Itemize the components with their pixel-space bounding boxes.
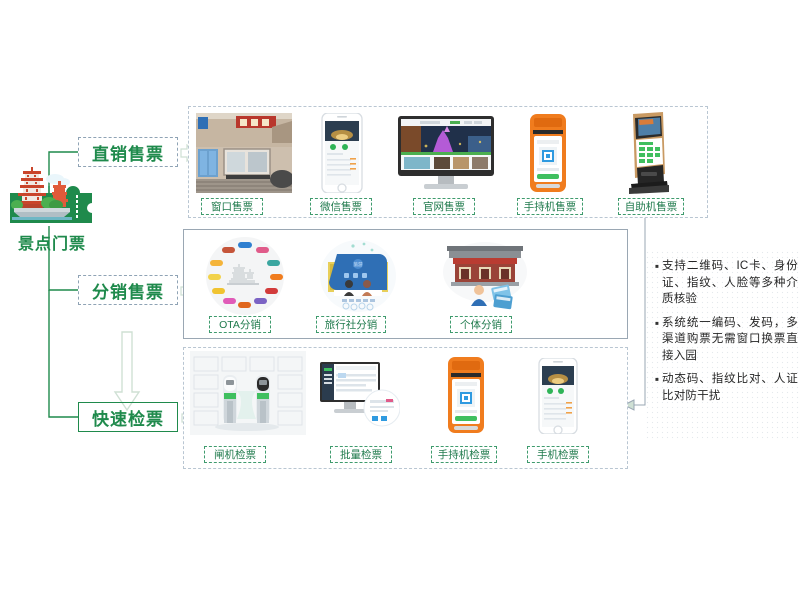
caption-wechat-sales: 微信售票 — [310, 198, 372, 215]
caption-individual-distribution: 个体分销 — [450, 316, 512, 333]
item-batch-inspection[interactable] — [320, 362, 400, 432]
caption-official-site-sales: 官网售票 — [413, 198, 475, 215]
item-handheld-inspection[interactable] — [446, 357, 486, 433]
note-text: 动态码、指纹比对、人证比对防干扰 — [662, 371, 798, 404]
turnstile-gate-icon — [190, 351, 306, 435]
ticket-pagoda-icon — [8, 163, 94, 228]
notes-list: ▪ 支持二维码、IC卡、身份证、指纹、人脸等多种介质核验 ▪ 系统统一编码、发码… — [652, 258, 798, 411]
item-official-site-sales[interactable] — [398, 116, 494, 192]
desktop-monitor-icon — [398, 116, 494, 192]
caption-window-sales: 窗口售票 — [201, 198, 263, 215]
root-label: 景点门票 — [4, 230, 100, 254]
item-ota-distribution[interactable] — [205, 236, 285, 316]
ticket-window-photo-icon — [196, 113, 292, 193]
item-handheld-sales[interactable] — [527, 114, 569, 192]
item-turnstile-inspection[interactable] — [190, 351, 306, 435]
caption-ota-distribution: OTA分销 — [209, 316, 271, 333]
root-ticket-icon — [8, 163, 94, 228]
note-item: ▪ 系统统一编码、发码，多渠道购票无需窗口换票直接入园 — [652, 315, 798, 365]
item-kiosk-sales[interactable] — [623, 112, 671, 194]
bullet-glyph: ▪ — [652, 258, 662, 308]
handheld-pos-icon — [527, 114, 569, 192]
bullet-glyph: ▪ — [652, 315, 662, 365]
note-item: ▪ 支持二维码、IC卡、身份证、指纹、人脸等多种介质核验 — [652, 258, 798, 308]
caption-kiosk-sales: 自助机售票 — [618, 198, 684, 215]
caption-handheld-inspection: 手持机检票 — [431, 446, 497, 463]
caption-batch-inspection: 批量检票 — [330, 446, 392, 463]
item-agency-distribution[interactable]: 旅游 — [320, 236, 396, 314]
item-mobile-inspection[interactable] — [537, 358, 579, 434]
stage-label-inspection[interactable]: 快速检票 — [78, 402, 178, 432]
ota-circle-logos-icon — [205, 236, 285, 316]
smartphone-wechat-icon — [320, 113, 364, 193]
svg-text:旅游: 旅游 — [354, 261, 363, 268]
individual-agent-icon — [443, 236, 527, 314]
stage-label-distribution[interactable]: 分销售票 — [78, 275, 178, 305]
caption-mobile-inspection: 手机检票 — [527, 446, 589, 463]
caption-agency-distribution: 旅行社分销 — [316, 316, 386, 333]
item-wechat-sales[interactable] — [320, 113, 364, 193]
handheld-pos-icon — [446, 357, 486, 433]
note-item: ▪ 动态码、指纹比对、人证比对防干扰 — [652, 371, 798, 404]
caption-turnstile-inspection: 闸机检票 — [204, 446, 266, 463]
item-individual-distribution[interactable] — [443, 236, 527, 314]
note-text: 支持二维码、IC卡、身份证、指纹、人脸等多种介质核验 — [662, 258, 798, 308]
bullet-glyph: ▪ — [652, 371, 662, 404]
smartphone-icon — [537, 358, 579, 434]
stage-label-direct[interactable]: 直销售票 — [78, 137, 178, 167]
caption-handheld-sales: 手持机售票 — [517, 198, 583, 215]
self-service-kiosk-icon — [623, 112, 671, 194]
item-window-sales[interactable] — [196, 113, 292, 193]
note-text: 系统统一编码、发码，多渠道购票无需窗口换票直接入园 — [662, 315, 798, 365]
diagram-canvas: 景点门票 直销售票 分销售票 快速检票 — [0, 0, 800, 600]
desktop-batch-icon — [320, 362, 400, 432]
travel-agency-counter-icon: 旅游 — [320, 236, 396, 314]
